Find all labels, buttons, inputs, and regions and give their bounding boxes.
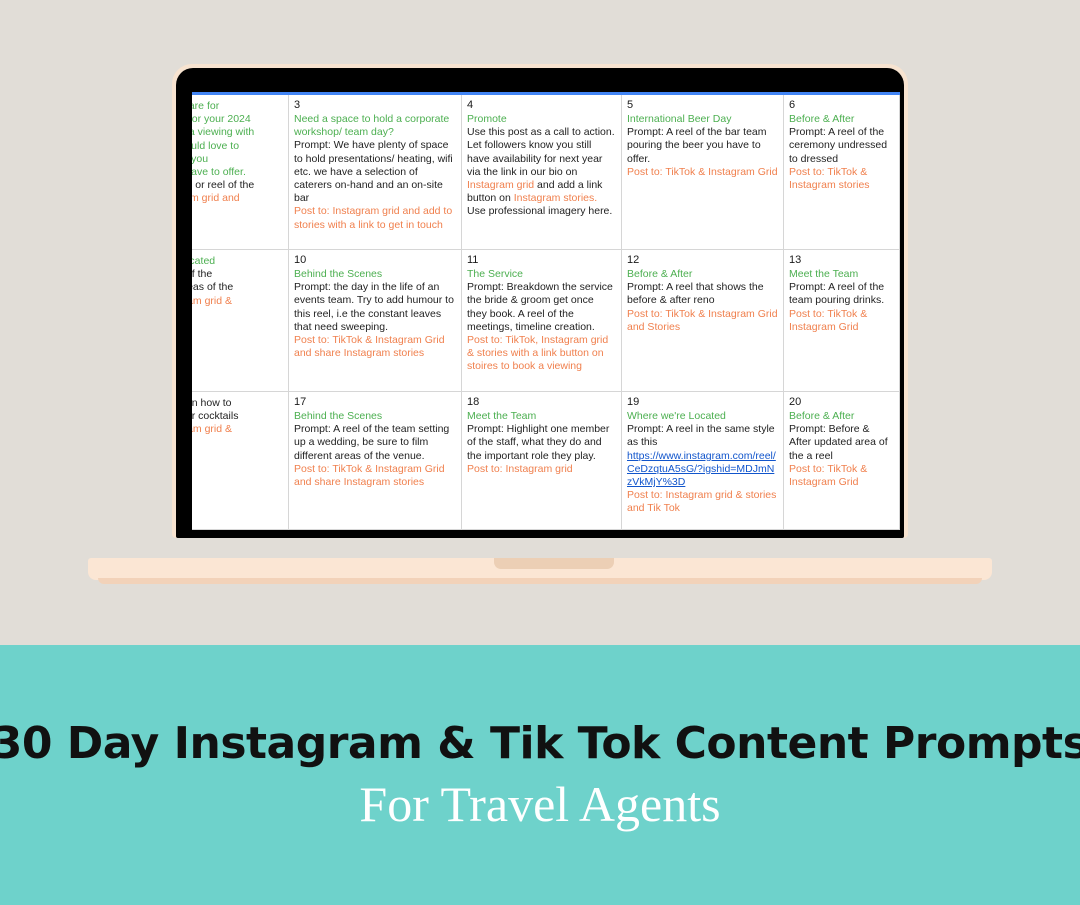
cell-text-line: e Located [192,255,283,268]
cell-text-line: Prompt: Highlight one member of the staf… [467,423,616,463]
cell-text-line: nage or reel of the [192,179,283,192]
cell-text-line: eel of the [192,268,283,281]
cell-day-number: 4 [467,99,616,112]
cell-text-line: Post to: Instagram grid & stories and Ti… [627,489,778,515]
cell-text-line: Prompt: A reel of the team setting up a … [294,423,456,463]
spreadsheet-grid[interactable]: nds are forues for your 2024ook a viewin… [192,95,900,530]
upper-background: nds are forues for your 2024ook a viewin… [0,0,1080,645]
spreadsheet-cell-day-17[interactable]: 17Behind the ScenesPrompt: A reel of the… [289,392,462,529]
cell-text-line: Post to: TikTok, Instagram grid & storie… [467,334,616,374]
cell-text-line: Prompt: We have plenty of space to hold … [294,139,456,205]
cell-paragraph: Use this post as a call to action. Let f… [467,126,616,218]
cell-text-line: Instagram grid [467,179,534,191]
cell-text-line: Prompt: A reel of the team pouring drink… [789,281,894,307]
spreadsheet-cell-day-5[interactable]: 5International Beer DayPrompt: A reel of… [622,95,784,249]
cell-text-line: e would love to [192,140,283,153]
spreadsheet-cell-day-13[interactable]: 13Meet the TeamPrompt: A reel of the tea… [784,250,900,391]
cell-text-line: g areas of the [192,281,283,294]
cell-text-line: Post to: TikTok & Instagram Grid and sha… [294,334,456,360]
cell-day-number: 10 [294,254,456,267]
cell-body: Behind the ScenesPrompt: the day in the … [294,268,456,360]
cell-text-line: Post to: TikTok & Instagram Grid and sha… [294,463,456,489]
banner-title: 30 Day Instagram & Tik Tok Content Promp… [0,718,1080,769]
cell-text-line: Post to: TikTok & Instagram Grid and Sto… [627,308,778,334]
cell-text-line: Meet the Team [789,268,894,281]
cell-body: Need a space to hold a corporate worksho… [294,113,456,232]
cell-text-line: International Beer Day [627,113,778,126]
cell-link[interactable]: https://www.instagram.com/reel/CeDzqtuA5… [627,450,778,490]
cell-body: Behind the ScenesPrompt: A reel of the t… [294,410,456,489]
spreadsheet-row: eel on how tof your cocktailstagram grid… [192,392,900,530]
spreadsheet-cell-day-6[interactable]: 6Before & AfterPrompt: A reel of the cer… [784,95,900,249]
spreadsheet-cell-clipped[interactable]: e Locatedeel of theg areas of thetagram … [192,250,289,391]
cell-text-line: agram grid and [192,192,283,205]
cell-body: e Locatedeel of theg areas of thetagram … [192,255,283,308]
cell-day-number: 13 [789,254,894,267]
cell-text-line: Post to: TikTok & Instagram Grid [789,308,894,334]
cell-text-line: Before & After [627,268,778,281]
cell-text-line: Behind the Scenes [294,410,456,423]
cell-text-line: Post to: TikTok & Instagram stories [789,166,894,192]
cell-text-line: tagram grid & [192,423,283,436]
cell-text-line: Meet the Team [467,410,616,423]
cell-text-line: Use professional imagery here. [467,205,612,217]
cell-body: Before & AfterPrompt: Before & After upd… [789,410,894,489]
cell-body: International Beer DayPrompt: A reel of … [627,113,778,179]
laptop-base-notch [494,558,614,569]
cell-text-line: Prompt: Before & After updated area of t… [789,423,894,463]
spreadsheet-row: e Locatedeel of theg areas of thetagram … [192,250,900,392]
spreadsheet-cell-day-4[interactable]: 4PromoteUse this post as a call to actio… [462,95,622,249]
spreadsheet-cell-day-20[interactable]: 20Before & AfterPrompt: Before & After u… [784,392,900,529]
spreadsheet-cell-day-10[interactable]: 10Behind the ScenesPrompt: the day in th… [289,250,462,391]
cell-body: The ServicePrompt: Breakdown the service… [467,268,616,374]
cell-text-line: tagram grid & [192,295,283,308]
cell-text-line: how you [192,153,283,166]
cell-day-number: 20 [789,396,894,409]
cell-text-line: Prompt: A reel of the bar team pouring t… [627,126,778,166]
cell-text-line: f your cocktails [192,410,283,423]
cell-text-line: Post to: TikTok & Instagram Grid [789,463,894,489]
cell-text-line: we have to offer. [192,166,283,179]
cell-body: Meet the TeamPrompt: Highlight one membe… [467,410,616,476]
cell-text-line: Need a space to hold a corporate worksho… [294,113,456,139]
poster-page: nds are forues for your 2024ook a viewin… [0,0,1080,905]
cell-text-line: Promote [467,113,616,126]
cell-text-line: Behind the Scenes [294,268,456,281]
cell-text-line: Before & After [789,410,894,423]
cell-day-number: 17 [294,396,456,409]
spreadsheet-cell-day-18[interactable]: 18Meet the TeamPrompt: Highlight one mem… [462,392,622,529]
cell-text-line: Prompt: the day in the life of an events… [294,281,456,334]
laptop-screen: nds are forues for your 2024ook a viewin… [192,92,900,530]
cell-day-number: 5 [627,99,778,112]
cell-text-line: ook a viewing with [192,126,283,139]
cell-body: PromoteUse this post as a call to action… [467,113,616,219]
spreadsheet-cell-day-3[interactable]: 3Need a space to hold a corporate worksh… [289,95,462,249]
cell-text-line: Prompt: A reel that shows the before & a… [627,281,778,307]
cell-day-number: 12 [627,254,778,267]
spreadsheet-cell-day-12[interactable]: 12Before & AfterPrompt: A reel that show… [622,250,784,391]
cell-text-line: Post to: Instagram grid and add to stori… [294,205,456,231]
cell-text-line: Post to: Instagram grid [467,463,616,476]
cell-day-number: 3 [294,99,456,112]
title-banner: 30 Day Instagram & Tik Tok Content Promp… [0,645,1080,905]
cell-text-line: Instagram stories. [514,192,597,204]
cell-body: Before & AfterPrompt: A reel that shows … [627,268,778,334]
cell-day-number: 18 [467,396,616,409]
cell-text-line: Prompt: A reel in the same style as this [627,423,778,449]
cell-body: Before & AfterPrompt: A reel of the cere… [789,113,894,192]
cell-body: Where we're LocatedPrompt: A reel in the… [627,410,778,516]
banner-subtitle: For Travel Agents [359,775,720,833]
spreadsheet-row: nds are forues for your 2024ook a viewin… [192,95,900,250]
spreadsheet-cell-day-11[interactable]: 11The ServicePrompt: Breakdown the servi… [462,250,622,391]
cell-text-line: Before & After [789,113,894,126]
cell-text-line: Post to: TikTok & Instagram Grid [627,166,778,179]
cell-text-line: Use this post as a call to action. Let f… [467,126,615,178]
cell-text-line: ues for your 2024 [192,113,283,126]
spreadsheet-cell-clipped[interactable]: eel on how tof your cocktailstagram grid… [192,392,289,529]
cell-text-line: eel on how to [192,397,283,410]
cell-body: Meet the TeamPrompt: A reel of the team … [789,268,894,334]
cell-text-line: The Service [467,268,616,281]
cell-body: nds are forues for your 2024ook a viewin… [192,100,283,206]
cell-body: eel on how tof your cocktailstagram grid… [192,397,283,437]
cell-day-number: 11 [467,254,616,267]
laptop-base-shadow [98,578,982,584]
cell-text-line: Prompt: Breakdown the service the bride … [467,281,616,334]
cell-text-line: Where we're Located [627,410,778,423]
cell-text-line: Prompt: A reel of the ceremony undressed… [789,126,894,166]
spreadsheet-cell-day-19[interactable]: 19Where we're LocatedPrompt: A reel in t… [622,392,784,529]
cell-text-line: nds are for [192,100,283,113]
spreadsheet-cell-clipped[interactable]: nds are forues for your 2024ook a viewin… [192,95,289,249]
cell-day-number: 6 [789,99,894,112]
cell-day-number: 19 [627,396,778,409]
